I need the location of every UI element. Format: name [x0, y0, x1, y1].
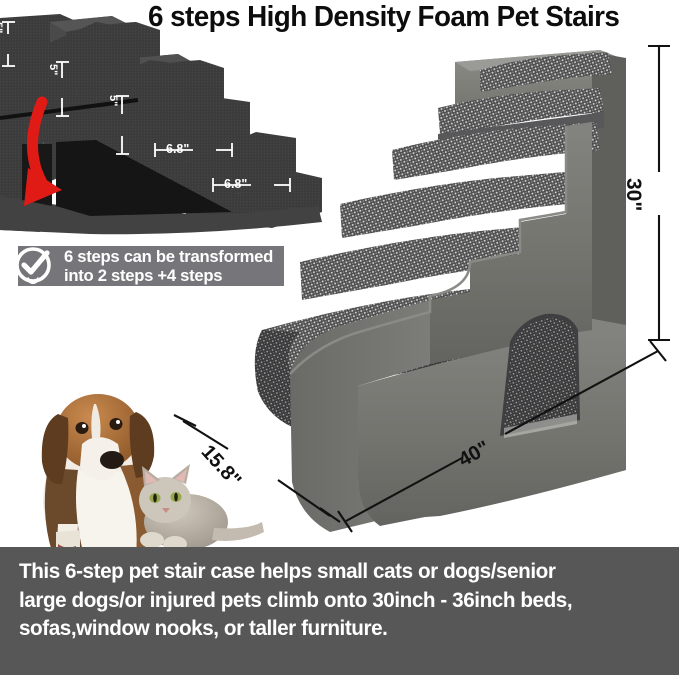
feature-badge-line-1: 6 steps can be transformed: [64, 247, 278, 266]
dog-beagle: [42, 394, 154, 568]
check-circle-icon: [14, 245, 54, 289]
caption-line-2: large dogs/or injured pets climb onto 30…: [19, 587, 659, 616]
dimension-riser-2-label: 5": [47, 64, 59, 75]
caption-text: This 6-step pet stair case helps small c…: [19, 558, 659, 644]
inset-dimension-lines: [2, 22, 290, 192]
dimension-depth-label: 15.8": [196, 441, 245, 492]
feature-badge-text: 6 steps can be transformed into 2 steps …: [64, 247, 278, 285]
caption-line-1: This 6-step pet stair case helps small c…: [19, 558, 659, 587]
main-stairs-graphic: [255, 50, 626, 532]
infographic-canvas: 6 steps High Density Foam Pet Stairs 30"…: [0, 0, 679, 675]
cat-kitten: [139, 464, 264, 552]
dimension-tread-1-label: 6.8": [166, 142, 189, 156]
caption-band: This 6-step pet stair case helps small c…: [0, 547, 679, 675]
dimension-riser-3-label: 5": [107, 95, 119, 106]
feature-badge-line-2: into 2 steps +4 steps: [64, 266, 278, 285]
transform-arrow-icon: [24, 102, 62, 206]
page-title: 6 steps High Density Foam Pet Stairs: [112, 0, 655, 35]
dimension-riser-1-label: 5": [0, 22, 4, 33]
dimension-lines: [174, 46, 670, 532]
feature-badge: 6 steps can be transformed into 2 steps …: [18, 246, 284, 286]
caption-line-3: sofas,window nooks, or taller furniture.: [19, 615, 659, 644]
inset-stairs-graphic: [0, 14, 322, 237]
dimension-height-label: 30": [621, 178, 645, 211]
dimension-tread-2-label: 6.8": [224, 177, 247, 191]
dimension-length-label: 40": [455, 437, 494, 472]
